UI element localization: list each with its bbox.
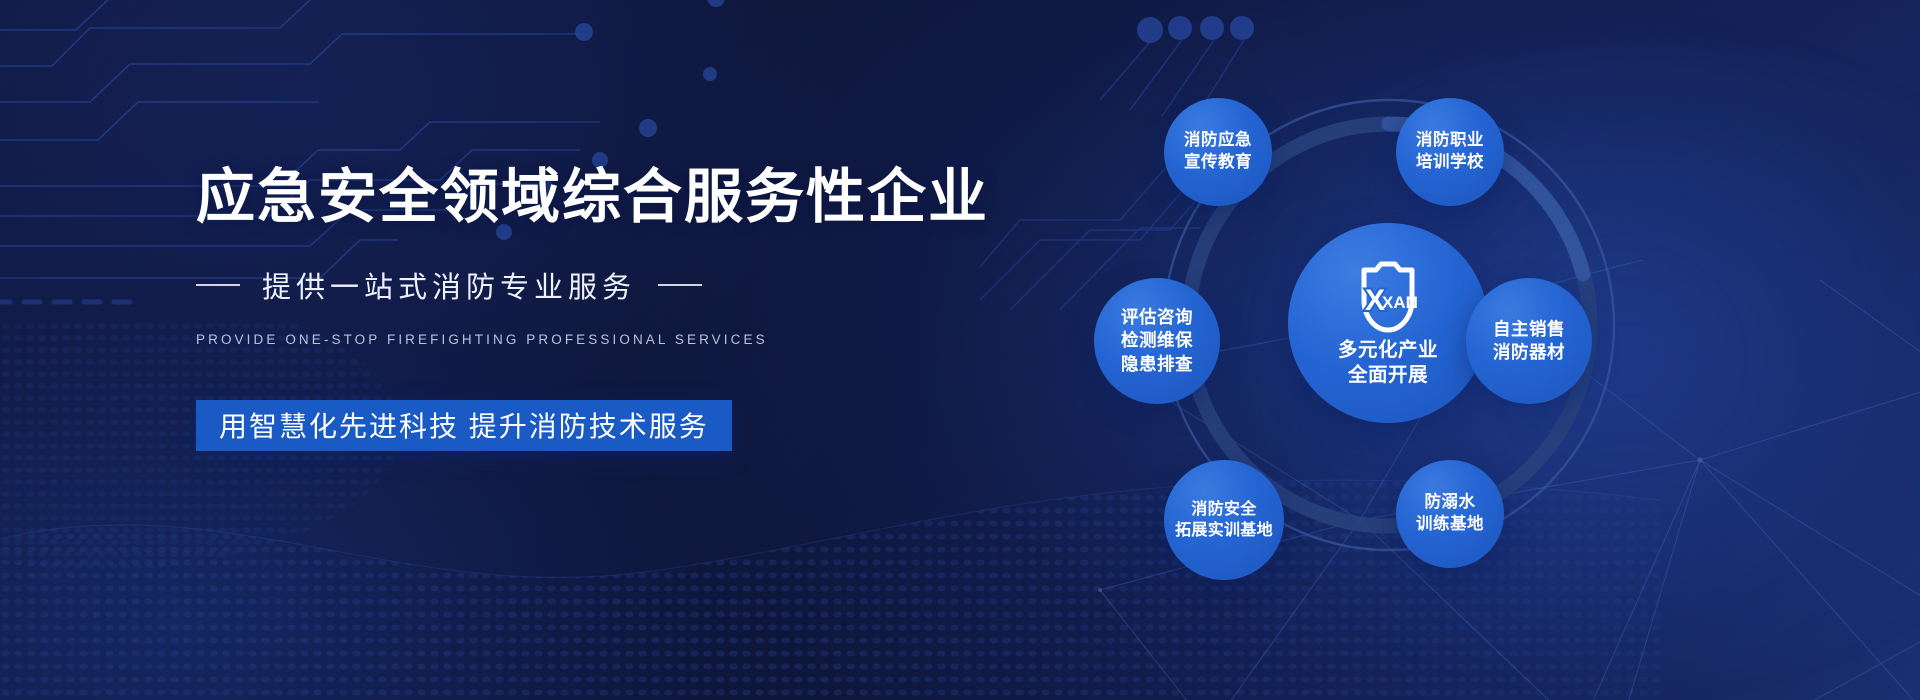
svg-text:XAN: XAN	[1382, 293, 1418, 312]
dash-left-icon	[196, 284, 240, 286]
hero-text-block: 应急安全领域综合服务性企业 提供一站式消防专业服务 PROVIDE ONE-ST…	[196, 166, 956, 451]
hero-banner: 应急安全领域综合服务性企业 提供一站式消防专业服务 PROVIDE ONE-ST…	[0, 0, 1920, 700]
subtitle-row: 提供一站式消防专业服务	[196, 264, 956, 306]
node-line-3: 隐患排查	[1121, 353, 1193, 376]
services-diagram: X XAN 多元化产业 全面开展 消防应急 宣传教育 消防职业 培训学校 评估咨…	[1128, 78, 1788, 623]
node-line-2: 培训学校	[1416, 152, 1484, 174]
cta-button-label: 用智慧化先进科技 提升消防技术服务	[219, 405, 709, 445]
center-node[interactable]: X XAN 多元化产业 全面开展	[1288, 223, 1488, 423]
node-line-2: 宣传教育	[1184, 152, 1252, 174]
node-line-1: 消防应急	[1184, 130, 1252, 152]
node-line-2: 拓展实训基地	[1175, 520, 1273, 541]
subtitle: 提供一站式消防专业服务	[262, 264, 636, 306]
center-node-label: 多元化产业 全面开展	[1338, 338, 1438, 389]
node-line-2: 消防器材	[1493, 341, 1565, 364]
node-line-2: 检测维保	[1121, 329, 1193, 352]
node-vocational-school[interactable]: 消防职业 培训学校	[1396, 98, 1504, 206]
node-assessment-inspection[interactable]: 评估咨询 检测维保 隐患排查	[1094, 278, 1220, 404]
node-line-1: 消防安全	[1191, 499, 1256, 520]
node-line-1: 防溺水	[1425, 492, 1476, 514]
shield-logo-icon: X XAN	[1352, 258, 1424, 336]
node-equipment-sales[interactable]: 自主销售 消防器材	[1466, 278, 1592, 404]
node-line-1: 自主销售	[1493, 318, 1565, 341]
page-title: 应急安全领域综合服务性企业	[196, 166, 956, 230]
center-line-1: 多元化产业	[1338, 338, 1438, 363]
cta-button[interactable]: 用智慧化先进科技 提升消防技术服务	[196, 400, 732, 451]
dash-right-icon	[658, 284, 702, 286]
node-line-1: 消防职业	[1416, 130, 1484, 152]
english-subtitle: PROVIDE ONE-STOP FIREFIGHTING PROFESSION…	[196, 332, 956, 347]
center-line-2: 全面开展	[1338, 363, 1438, 388]
node-safety-training-base[interactable]: 消防安全 拓展实训基地	[1164, 460, 1284, 580]
node-line-1: 评估咨询	[1121, 306, 1193, 329]
node-emergency-education[interactable]: 消防应急 宣传教育	[1164, 98, 1272, 206]
node-line-2: 训练基地	[1416, 514, 1484, 536]
node-anti-drowning-base[interactable]: 防溺水 训练基地	[1396, 460, 1504, 568]
